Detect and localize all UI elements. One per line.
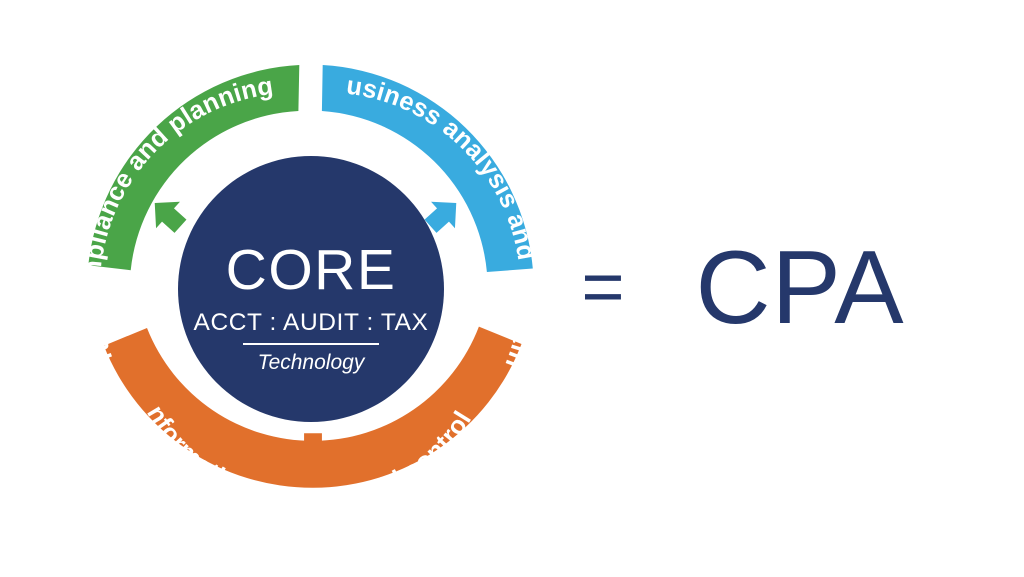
core-center[interactable]: CORE ACCT : AUDIT : TAX Technology xyxy=(178,156,444,422)
cpa-result: CPA xyxy=(695,230,904,346)
core-subheading: ACCT : AUDIT : TAX xyxy=(194,309,429,336)
diagram-canvas: Tax compliance and planning Business ana… xyxy=(0,0,1024,577)
equation: = CPA xyxy=(581,230,904,346)
core-cpa-diagram: Tax compliance and planning Business ana… xyxy=(0,0,1024,577)
core-heading: CORE xyxy=(226,238,397,302)
core-footnote: Technology xyxy=(258,351,366,374)
equals-operator: = xyxy=(581,245,624,328)
